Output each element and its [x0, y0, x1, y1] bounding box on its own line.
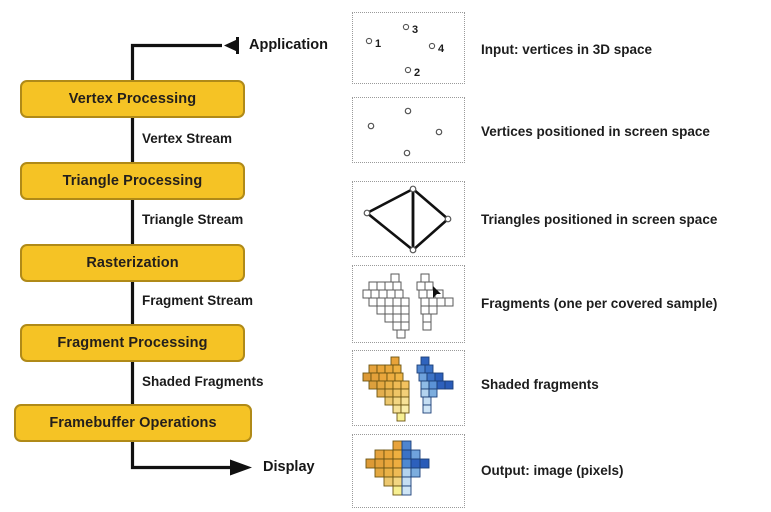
stage-label: Framebuffer Operations [49, 415, 216, 431]
vertex-marker-d [404, 150, 409, 155]
vertex-number-1: 1 [375, 38, 381, 50]
panel-caption-fragments: Fragments (one per covered sample) [481, 296, 717, 311]
stage-label: Fragment Processing [57, 335, 207, 351]
vertex-markers [368, 108, 441, 155]
triangle-vertex-markers [364, 186, 451, 253]
stage-label: Vertex Processing [69, 91, 196, 107]
stream-label-shaded-fragments: Shaded Fragments [142, 374, 264, 389]
vertex-marker-1 [366, 38, 371, 43]
stage-box-fragment-processing[interactable]: Fragment Processing [20, 324, 245, 362]
output-arrow-head [230, 460, 252, 476]
shaded-cells-left [363, 357, 409, 421]
stage-label: Rasterization [86, 255, 178, 271]
panel-input-vertices: 1 3 4 2 [352, 12, 465, 84]
panel-caption-input-vertices: Input: vertices in 3D space [481, 42, 652, 57]
stream-label-fragment-stream: Fragment Stream [142, 293, 253, 308]
vertices-3d-illustration: 1 3 4 2 [353, 13, 463, 82]
panel-shaded-fragments [352, 350, 465, 426]
panel-caption-shaded-fragments: Shaded fragments [481, 377, 599, 392]
stage-box-vertex-processing[interactable]: Vertex Processing [20, 80, 245, 118]
panel-caption-output-image: Output: image (pixels) [481, 463, 624, 478]
vertex-marker-2 [405, 67, 410, 72]
vertex-marker-b [405, 108, 410, 113]
output-cells-blue [402, 441, 429, 495]
panel-triangles [352, 181, 465, 257]
stage-label: Triangle Processing [63, 173, 203, 189]
vertices-screen-illustration [353, 98, 463, 161]
vertex-number-2: 2 [414, 67, 420, 79]
output-connector-line [133, 440, 233, 468]
vertex-number-4: 4 [438, 43, 445, 55]
vertex-marker-4 [429, 43, 434, 48]
triangle-edges [367, 189, 448, 250]
vertex-number-3: 3 [412, 24, 418, 36]
output-image-illustration [353, 435, 463, 506]
stream-label-triangle-stream: Triangle Stream [142, 212, 243, 227]
vertex-marker-c [436, 129, 441, 134]
panel-screen-space-vertices [352, 97, 465, 163]
panel-fragments [352, 265, 465, 343]
stream-label-vertex-stream: Vertex Stream [142, 131, 232, 146]
fragment-cells-left [363, 274, 409, 338]
panel-caption-triangles: Triangles positioned in screen space [481, 212, 717, 227]
vertex-marker-3 [403, 24, 408, 29]
stage-box-framebuffer-operations[interactable]: Framebuffer Operations [14, 404, 252, 442]
stage-box-triangle-processing[interactable]: Triangle Processing [20, 162, 245, 200]
panel-caption-screen-space-vertices: Vertices positioned in screen space [481, 124, 710, 139]
vertex-markers: 1 3 4 2 [366, 24, 445, 79]
endpoint-label-application: Application [249, 37, 328, 53]
output-cells-orange [366, 441, 402, 495]
fragment-cells-right [417, 274, 453, 330]
stage-box-rasterization[interactable]: Rasterization [20, 244, 245, 282]
shaded-fragments-illustration [353, 351, 463, 424]
fragments-outline-illustration [353, 266, 463, 341]
vertex-marker-a [368, 123, 373, 128]
panel-output-image [352, 434, 465, 508]
shaded-cells-right [417, 357, 453, 413]
endpoint-label-display: Display [263, 459, 315, 475]
pipeline-flowchart: Application Display Vertex Processing Tr… [0, 0, 345, 512]
input-arrow-head [224, 39, 238, 52]
triangles-illustration [353, 182, 463, 255]
